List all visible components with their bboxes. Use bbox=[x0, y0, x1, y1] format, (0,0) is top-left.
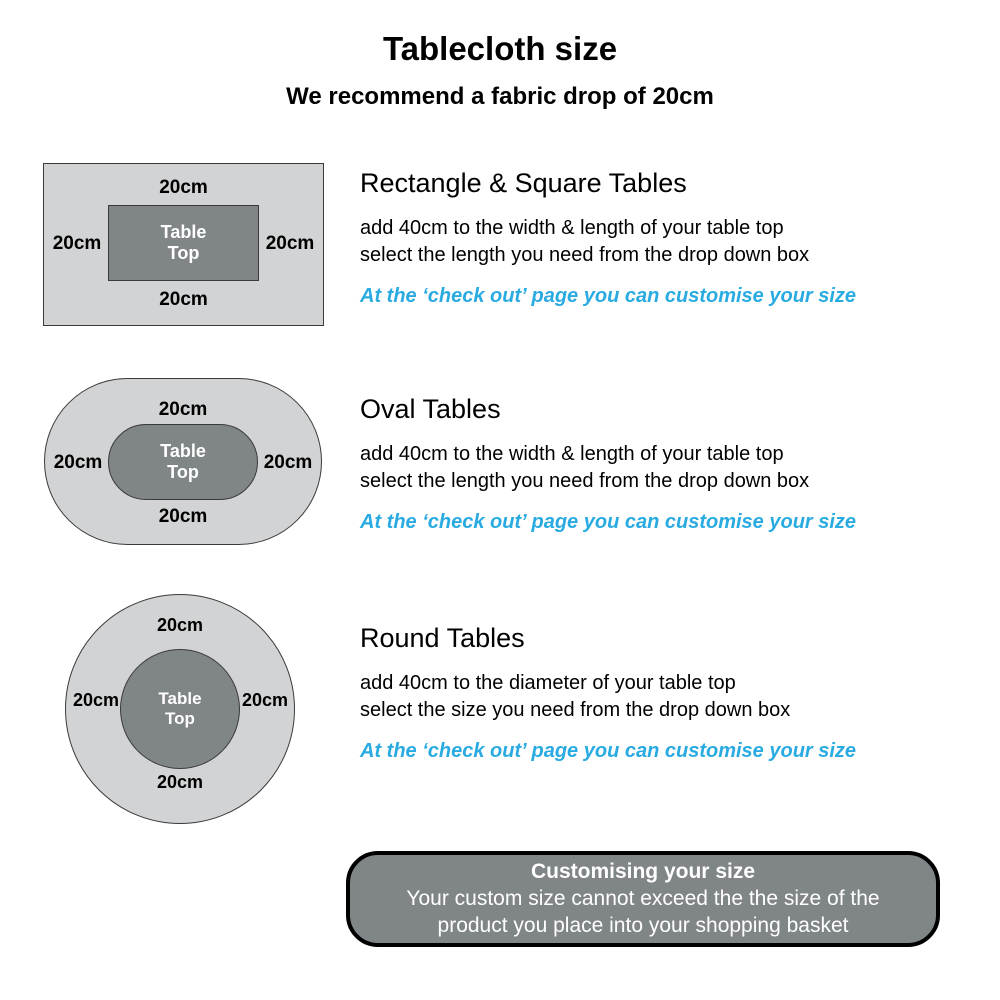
oval-instruction-line-1: add 40cm to the width & length of your t… bbox=[360, 441, 980, 468]
oval-section-title: Oval Tables bbox=[360, 394, 980, 425]
rectangle-text-block: Rectangle & Square Tables add 40cm to th… bbox=[360, 168, 980, 308]
drop-label-top: 20cm bbox=[65, 615, 295, 636]
drop-label-bottom: 20cm bbox=[43, 289, 324, 311]
callout-title: Customising your size bbox=[531, 859, 755, 885]
rectangle-instruction-line-2: select the length you need from the drop… bbox=[360, 242, 980, 269]
oval-diagram: Table Top 20cm 20cm 20cm 20cm bbox=[44, 378, 322, 545]
drop-label-right: 20cm bbox=[233, 690, 297, 711]
rectangle-section-title: Rectangle & Square Tables bbox=[360, 168, 980, 199]
drop-label-bottom: 20cm bbox=[44, 506, 322, 528]
drop-label-right: 20cm bbox=[258, 233, 322, 255]
table-top-label-line2: Top bbox=[167, 462, 199, 483]
round-diagram: Table Top 20cm 20cm 20cm 20cm bbox=[65, 594, 295, 824]
round-text-block: Round Tables add 40cm to the diameter of… bbox=[360, 623, 980, 763]
round-section-title: Round Tables bbox=[360, 623, 980, 654]
rectangle-instruction-line-1: add 40cm to the width & length of your t… bbox=[360, 215, 980, 242]
rectangle-diagram: Table Top 20cm 20cm 20cm 20cm bbox=[43, 163, 324, 326]
round-instruction-line-1: add 40cm to the diameter of your table t… bbox=[360, 670, 980, 697]
oval-table-top: Table Top bbox=[108, 424, 258, 500]
drop-label-left: 20cm bbox=[45, 233, 109, 255]
table-top-label-line1: Table bbox=[158, 689, 201, 709]
round-table-top: Table Top bbox=[120, 649, 240, 769]
customising-size-callout: Customising your size Your custom size c… bbox=[346, 851, 940, 947]
page-subtitle: We recommend a fabric drop of 20cm bbox=[0, 83, 1000, 111]
oval-text-block: Oval Tables add 40cm to the width & leng… bbox=[360, 394, 980, 534]
drop-label-top: 20cm bbox=[43, 177, 324, 199]
callout-line-2: product you place into your shopping bas… bbox=[438, 912, 849, 939]
drop-label-right: 20cm bbox=[256, 452, 320, 474]
callout-line-1: Your custom size cannot exceed the the s… bbox=[406, 885, 879, 912]
drop-label-bottom: 20cm bbox=[65, 772, 295, 793]
rectangle-table-top: Table Top bbox=[108, 205, 259, 281]
table-top-label-line2: Top bbox=[165, 709, 195, 729]
round-instruction-line-2: select the size you need from the drop d… bbox=[360, 697, 980, 724]
oval-instruction-line-2: select the length you need from the drop… bbox=[360, 468, 980, 495]
oval-checkout-note: At the ‘check out’ page you can customis… bbox=[360, 511, 980, 534]
table-top-label-line2: Top bbox=[168, 243, 200, 264]
rectangle-checkout-note: At the ‘check out’ page you can customis… bbox=[360, 285, 980, 308]
table-top-label-line1: Table bbox=[161, 222, 207, 243]
drop-label-left: 20cm bbox=[46, 452, 110, 474]
page-title: Tablecloth size bbox=[0, 30, 1000, 68]
drop-label-top: 20cm bbox=[44, 399, 322, 421]
round-checkout-note: At the ‘check out’ page you can customis… bbox=[360, 740, 980, 763]
table-top-label-line1: Table bbox=[160, 441, 206, 462]
drop-label-left: 20cm bbox=[64, 690, 128, 711]
